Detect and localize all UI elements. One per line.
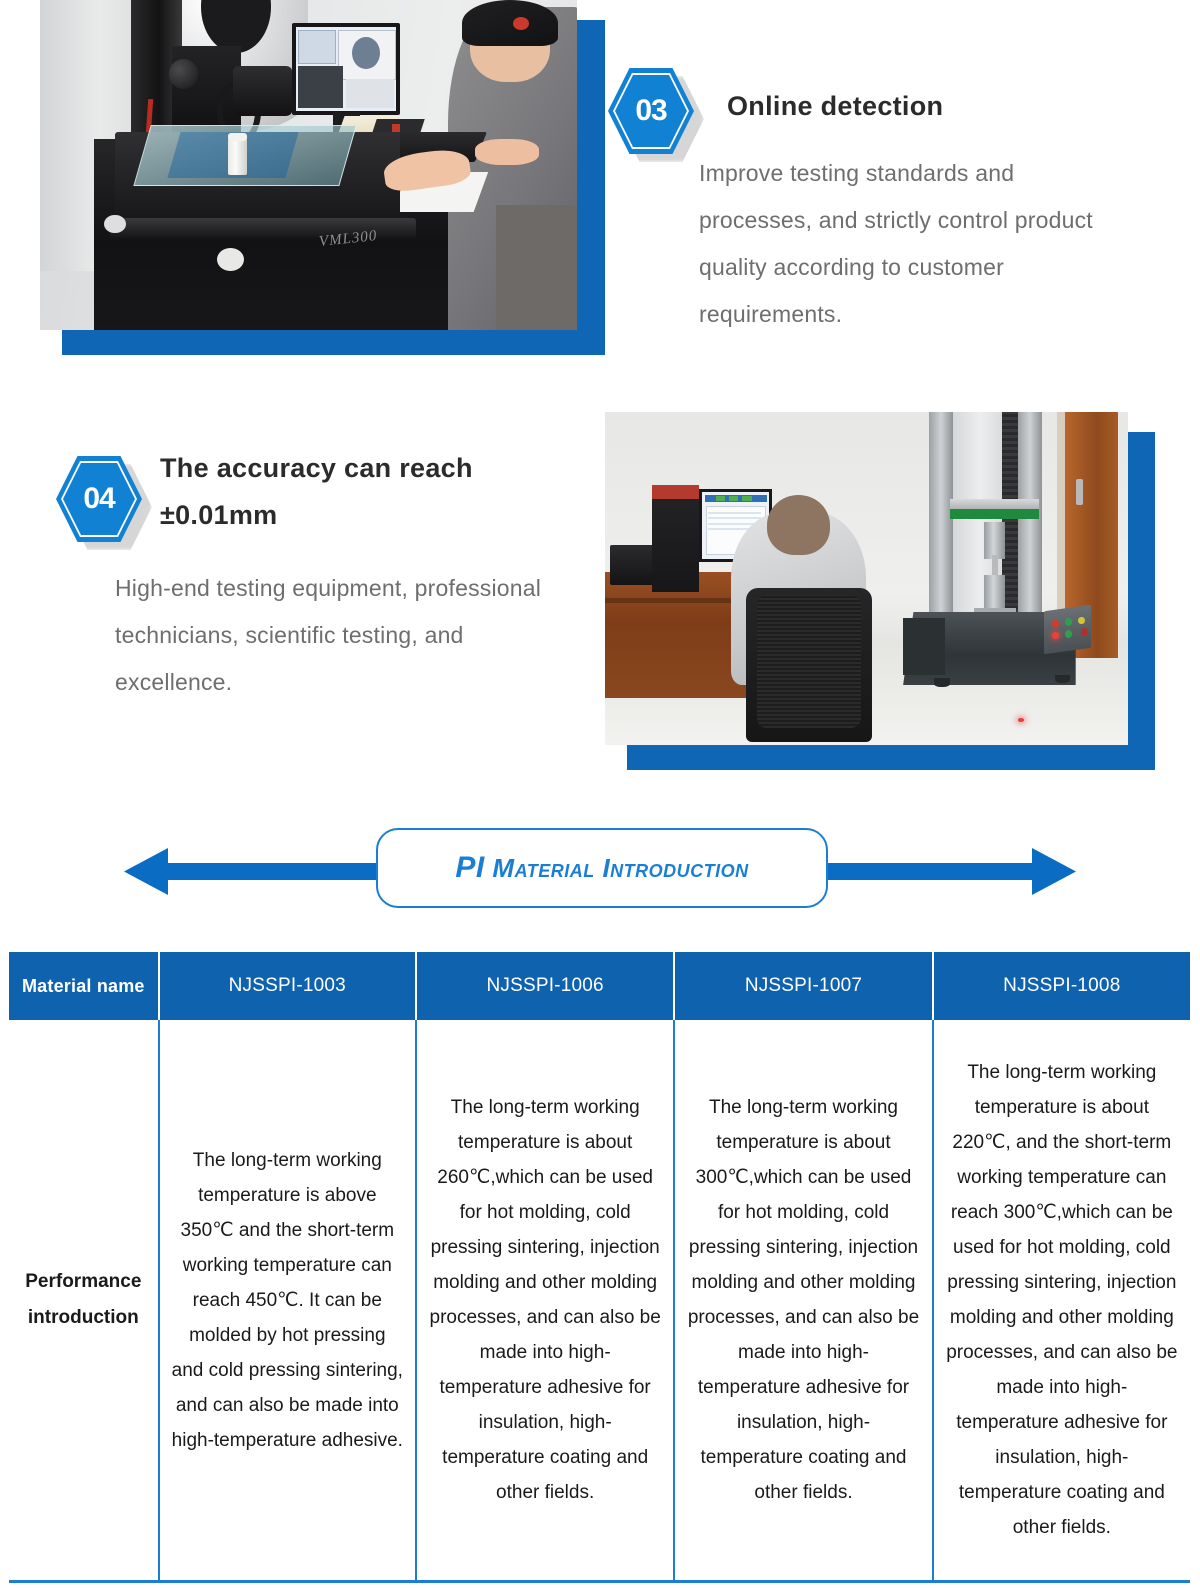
banner-title: PI Material Introduction <box>455 851 748 885</box>
photo-image-tensile-tester <box>605 412 1128 745</box>
arrow-right-icon <box>1032 848 1076 895</box>
badge-hexagon-04: 04 <box>56 456 142 542</box>
section-04-title-line2: ±0.01mm <box>160 492 580 538</box>
table-row-label: Performance introduction <box>9 1020 158 1580</box>
table-header-cell-3: NJSSPI-1007 <box>675 952 931 1020</box>
table-cell-njsspi-1008: The long-term working temperature is abo… <box>934 1020 1190 1580</box>
photo-online-detection: VML300 <box>40 0 600 360</box>
table-cell-njsspi-1007: The long-term working temperature is abo… <box>675 1020 931 1580</box>
section-04-title-line1: The accuracy can reach <box>160 445 580 491</box>
table-cell-njsspi-1006: The long-term working temperature is abo… <box>417 1020 673 1580</box>
photo-image-measuring-machine: VML300 <box>40 0 577 330</box>
badge-number: 03 <box>608 68 694 154</box>
section-03-body: Improve testing standards and processes,… <box>699 150 1123 338</box>
badge-hexagon-03: 03 <box>608 68 694 154</box>
section-03-title: Online detection <box>727 83 1147 129</box>
table-header-cell-0: Material name <box>9 952 158 1020</box>
table-body-row: Performance introduction The long-term w… <box>9 1020 1190 1583</box>
banner-title-rest: Material Introduction <box>485 853 749 883</box>
photo-testing-lab <box>605 412 1165 772</box>
arrow-left-icon <box>124 848 168 895</box>
table-header-row: Material name NJSSPI-1003 NJSSPI-1006 NJ… <box>9 952 1190 1020</box>
section-04-body: High-end testing equipment, professional… <box>115 565 585 706</box>
table-cell-njsspi-1003: The long-term working temperature is abo… <box>160 1020 415 1580</box>
banner-title-lead: PI <box>455 851 484 884</box>
badge-number: 04 <box>56 456 142 542</box>
banner-bar-left <box>160 863 390 880</box>
table-header-cell-4: NJSSPI-1008 <box>934 952 1190 1020</box>
banner-pill: PI Material Introduction <box>376 828 828 908</box>
material-table: Material name NJSSPI-1003 NJSSPI-1006 NJ… <box>9 952 1190 1583</box>
table-header-cell-2: NJSSPI-1006 <box>417 952 673 1020</box>
banner-bar-right <box>810 863 1036 880</box>
table-header-cell-1: NJSSPI-1003 <box>160 952 415 1020</box>
